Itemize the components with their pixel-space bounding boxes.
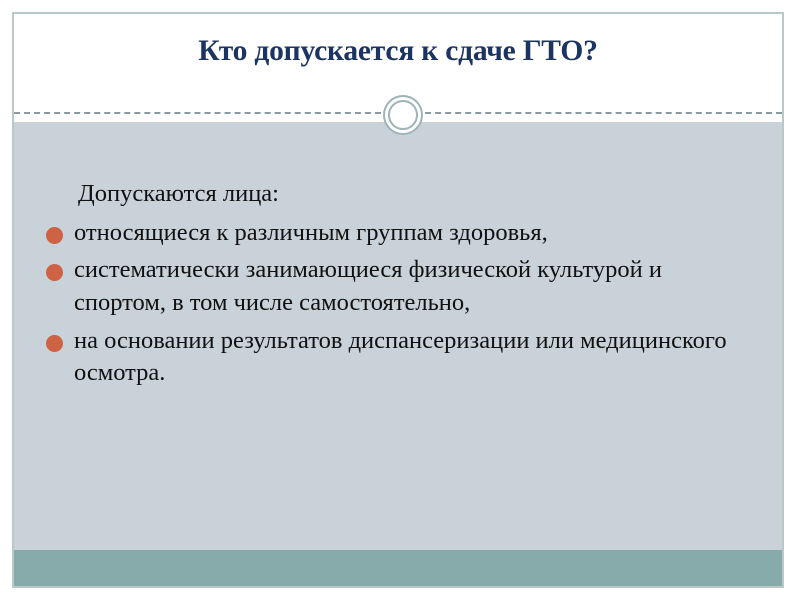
slide-body-band: Допускаются лица: относящиеся к различны… <box>14 122 782 550</box>
bullet-dot-icon <box>46 227 63 244</box>
list-item-label: систематически занимающиеся физической к… <box>74 254 758 319</box>
slide-footer-band <box>14 550 782 586</box>
list-item-label: относящиеся к различным группам здоровья… <box>74 217 758 250</box>
list-item: на основании результатов диспансеризации… <box>32 325 758 390</box>
list-item-label: на основании результатов диспансеризации… <box>74 325 758 390</box>
page-title: Кто допускается к сдаче ГТО? <box>14 35 782 68</box>
list-item: относящиеся к различным группам здоровья… <box>32 217 758 250</box>
decorative-ring-icon <box>383 95 423 135</box>
lead-line: Допускаются лица: <box>32 178 758 210</box>
slide-content: Допускаются лица: относящиеся к различны… <box>32 178 758 395</box>
bullet-dot-icon <box>46 335 63 352</box>
presentation-slide: Кто допускается к сдаче ГТО? Допускаются… <box>12 12 784 588</box>
decorative-ring-inner-icon <box>388 100 418 130</box>
list-item: систематически занимающиеся физической к… <box>32 254 758 319</box>
bullet-dot-icon <box>46 264 63 281</box>
